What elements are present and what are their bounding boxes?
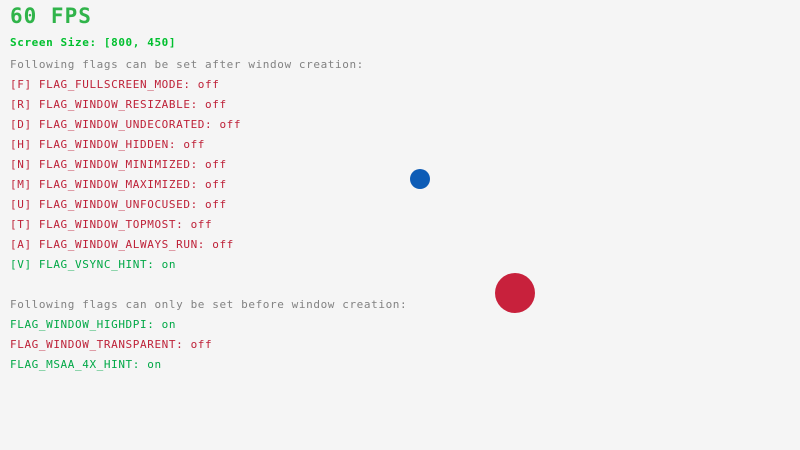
flag-row-window-topmost[interactable]: [T] FLAG_WINDOW_TOPMOST: off xyxy=(10,218,241,238)
raylib-window-flags-demo: 60 FPS Screen Size: [800, 450] Following… xyxy=(0,0,800,450)
heading-flags-after-creation: Following flags can be set after window … xyxy=(10,58,364,72)
flag-row-window-unfocused[interactable]: [U] FLAG_WINDOW_UNFOCUSED: off xyxy=(10,198,241,218)
heading-flags-before-creation: Following flags can only be set before w… xyxy=(10,298,407,312)
flag-row-window-undecorated[interactable]: [D] FLAG_WINDOW_UNDECORATED: off xyxy=(10,118,241,138)
red-circle xyxy=(495,273,535,313)
flag-row-vsync-hint[interactable]: [V] FLAG_VSYNC_HINT: on xyxy=(10,258,241,278)
flag-list-after-creation: [F] FLAG_FULLSCREEN_MODE: off [R] FLAG_W… xyxy=(10,78,241,278)
flag-list-before-creation: FLAG_WINDOW_HIGHDPI: on FLAG_WINDOW_TRAN… xyxy=(10,318,212,378)
flag-row-window-transparent: FLAG_WINDOW_TRANSPARENT: off xyxy=(10,338,212,358)
flag-row-msaa-4x-hint: FLAG_MSAA_4X_HINT: on xyxy=(10,358,212,378)
screen-size-label: Screen Size: [800, 450] xyxy=(10,36,176,50)
fps-counter: 60 FPS xyxy=(10,4,92,28)
flag-row-window-hidden[interactable]: [H] FLAG_WINDOW_HIDDEN: off xyxy=(10,138,241,158)
flag-row-window-resizable[interactable]: [R] FLAG_WINDOW_RESIZABLE: off xyxy=(10,98,241,118)
blue-circle xyxy=(410,169,430,189)
flag-row-window-highdpi: FLAG_WINDOW_HIGHDPI: on xyxy=(10,318,212,338)
flag-row-window-always-run[interactable]: [A] FLAG_WINDOW_ALWAYS_RUN: off xyxy=(10,238,241,258)
flag-row-fullscreen-mode[interactable]: [F] FLAG_FULLSCREEN_MODE: off xyxy=(10,78,241,98)
flag-row-window-maximized[interactable]: [M] FLAG_WINDOW_MAXIMIZED: off xyxy=(10,178,241,198)
flag-row-window-minimized[interactable]: [N] FLAG_WINDOW_MINIMIZED: off xyxy=(10,158,241,178)
